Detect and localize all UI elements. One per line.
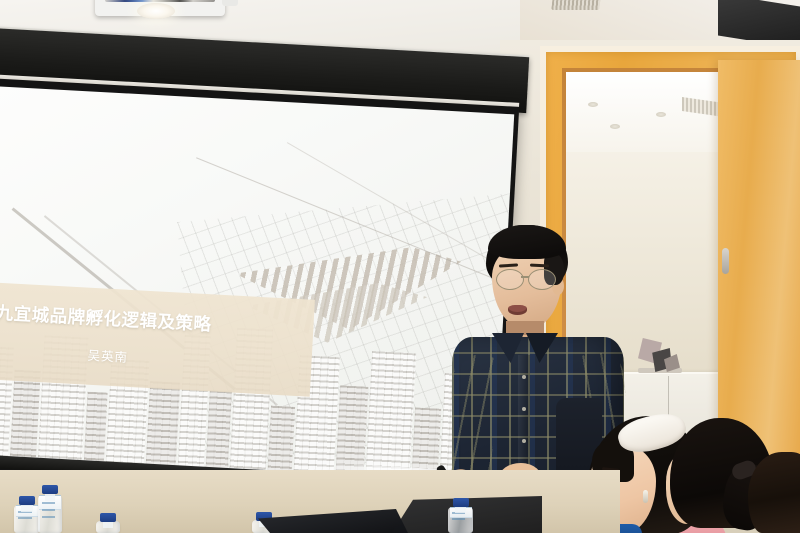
bottle-neck (455, 506, 466, 513)
eyeglasses-bridge (521, 276, 529, 278)
recessed-ceiling-light-icon (137, 3, 175, 19)
eyeglasses-icon (528, 269, 556, 290)
eyeglasses-icon (496, 269, 524, 290)
projected-slide: 九宜城品牌孵化逻辑及策略 吴英南 (0, 86, 514, 488)
presenter-mouth (508, 305, 527, 315)
presenter-neck-shadow (506, 321, 544, 335)
decorative-sculpture (638, 338, 678, 374)
sprinkler-icon (656, 112, 666, 117)
bottle-cap[interactable] (19, 496, 36, 505)
presentation-photo-scene: 九宜城品牌孵化逻辑及策略 吴英南 (0, 0, 800, 533)
bottle-cap[interactable] (42, 485, 57, 494)
water-bottle[interactable] (14, 496, 40, 533)
shirt-button (522, 439, 526, 443)
sprinkler-icon (610, 124, 620, 129)
drop-earring (643, 490, 648, 503)
bottle-cap[interactable] (453, 498, 469, 507)
presenter-hair-front (488, 225, 566, 259)
sprinkler-icon (588, 102, 598, 107)
bottle-neck (21, 505, 32, 512)
shirt-button (522, 375, 526, 379)
shirt-button (522, 407, 526, 411)
door-handle[interactable] (722, 248, 729, 274)
water-bottle[interactable] (448, 498, 473, 533)
projector-lens (222, 0, 238, 6)
bottle-cap[interactable] (100, 513, 115, 522)
water-bottle[interactable] (96, 513, 120, 533)
bottle-neck (103, 521, 114, 528)
bottle-neck (45, 494, 56, 501)
water-bottle[interactable] (38, 485, 62, 533)
projector-ports (105, 0, 215, 2)
air-vent-icon (551, 0, 600, 10)
